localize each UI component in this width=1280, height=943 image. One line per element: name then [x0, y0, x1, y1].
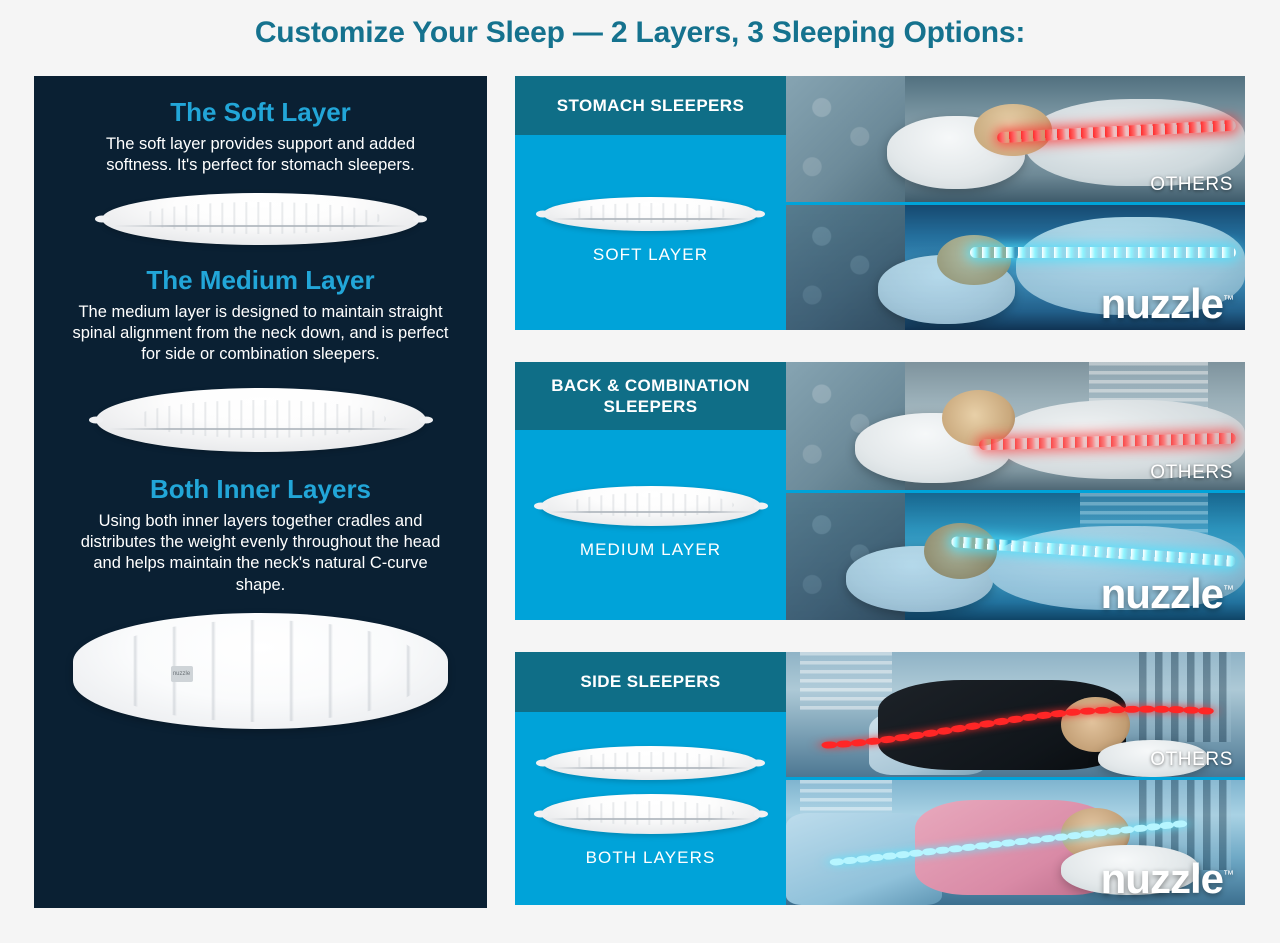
card-label-soft-layer: SOFT LAYER	[593, 245, 708, 265]
photo-nuzzle-stomach: nuzzle™	[786, 202, 1245, 331]
nuzzle-wordmark: nuzzle	[1101, 570, 1223, 617]
pillow-crease-texture	[569, 752, 732, 772]
layer-title-both: Both Inner Layers	[50, 475, 471, 505]
pillow-seam	[552, 218, 750, 220]
photo-others-side: OTHERS	[786, 652, 1245, 777]
both-layers-pillow-image: nuzzle	[50, 596, 471, 746]
layers-info-panel: The Soft Layer The soft layer provides s…	[34, 76, 487, 908]
pillow-icon	[541, 486, 761, 526]
spine-curve-svg	[823, 702, 1218, 755]
pillow-top-view-icon: nuzzle	[73, 613, 448, 729]
card-header-side: SIDE SLEEPERS	[515, 652, 786, 712]
pillow-seam	[549, 511, 751, 513]
card-body-stomach: SOFT LAYER	[515, 135, 786, 330]
layer-block-soft: The Soft Layer The soft layer provides s…	[50, 98, 471, 262]
layer-description-soft: The soft layer provides support and adde…	[50, 134, 471, 176]
pillow-brand-tag: nuzzle	[171, 666, 193, 682]
page-title: Customize Your Sleep — 2 Layers, 3 Sleep…	[0, 0, 1280, 50]
nuzzle-brand-logo: nuzzle™	[1101, 570, 1233, 618]
card-photo-column: OTHERS nuzzle™	[786, 362, 1245, 620]
spine-line-aligned	[970, 247, 1236, 258]
card-pillow-panel: BACK & COMBINATION SLEEPERS MEDIUM LAYER	[515, 362, 786, 620]
pillow-crease-texture	[567, 493, 734, 517]
pillow-icon	[96, 388, 426, 452]
pillow-icon	[543, 197, 758, 231]
card-body-back-combination: MEDIUM LAYER	[515, 430, 786, 620]
photo-corner-label-others: OTHERS	[1150, 749, 1233, 771]
window-blinds	[800, 652, 892, 710]
nuzzle-wordmark: nuzzle	[1101, 280, 1223, 327]
card-header-back-combination: BACK & COMBINATION SLEEPERS	[515, 362, 786, 430]
card-pillow-panel: STOMACH SLEEPERS SOFT LAYER	[515, 76, 786, 330]
trademark-symbol: ™	[1223, 869, 1233, 881]
card-photo-column: OTHERS nuzzle™	[786, 652, 1245, 905]
trademark-symbol: ™	[1223, 584, 1233, 596]
card-label-both-layers: BOTH LAYERS	[586, 848, 716, 868]
pillow-seam	[552, 767, 750, 769]
card-header-stomach: STOMACH SLEEPERS	[515, 76, 786, 135]
medium-layer-pillow-image	[50, 365, 471, 475]
photo-others-stomach: OTHERS	[786, 76, 1245, 202]
soft-layer-pillow-image	[50, 176, 471, 262]
pillow-quilt-texture	[99, 620, 422, 722]
photo-nuzzle-back: nuzzle™	[786, 490, 1245, 621]
pillow-crease-texture	[567, 801, 734, 825]
nuzzle-brand-logo: nuzzle™	[1101, 280, 1233, 328]
card-side-sleepers: SIDE SLEEPERS BOTH LAYERS	[515, 652, 1245, 905]
pillow-seam	[109, 428, 413, 430]
layer-title-soft: The Soft Layer	[50, 98, 471, 128]
layer-description-medium: The medium layer is designed to maintain…	[50, 302, 471, 365]
layer-block-both: Both Inner Layers Using both inner layer…	[50, 475, 471, 745]
pillow-icon	[543, 746, 758, 780]
photo-nuzzle-side: nuzzle™	[786, 777, 1245, 905]
trademark-symbol: ™	[1223, 294, 1233, 306]
headboard	[786, 76, 905, 202]
card-body-side: BOTH LAYERS	[515, 712, 786, 905]
photo-others-back: OTHERS	[786, 362, 1245, 490]
photo-corner-label-others: OTHERS	[1150, 462, 1233, 484]
pillow-crease-texture	[135, 400, 386, 438]
pillow-crease-texture	[569, 203, 732, 223]
nuzzle-brand-logo: nuzzle™	[1101, 855, 1233, 903]
pillow-icon	[102, 193, 420, 245]
layer-title-medium: The Medium Layer	[50, 266, 471, 296]
nuzzle-wordmark: nuzzle	[1101, 855, 1223, 902]
layer-description-both: Using both inner layers together cradles…	[50, 511, 471, 595]
card-photo-column: OTHERS nuzzle™	[786, 76, 1245, 330]
layer-block-medium: The Medium Layer The medium layer is des…	[50, 266, 471, 475]
card-label-medium-layer: MEDIUM LAYER	[580, 540, 721, 560]
spine-line-misaligned-curved	[823, 702, 1218, 755]
pillow-icon	[541, 794, 761, 834]
card-stomach-sleepers: STOMACH SLEEPERS SOFT LAYER	[515, 76, 1245, 330]
infographic-stage: Customize Your Sleep — 2 Layers, 3 Sleep…	[0, 0, 1280, 943]
card-pillow-panel: SIDE SLEEPERS BOTH LAYERS	[515, 652, 786, 905]
pillow-crease-texture	[140, 202, 382, 233]
card-back-combination-sleepers: BACK & COMBINATION SLEEPERS MEDIUM LAYER	[515, 362, 1245, 620]
sleeping-options-cards: STOMACH SLEEPERS SOFT LAYER	[515, 76, 1245, 937]
photo-corner-label-others: OTHERS	[1150, 174, 1233, 196]
pillow-seam	[549, 818, 751, 820]
